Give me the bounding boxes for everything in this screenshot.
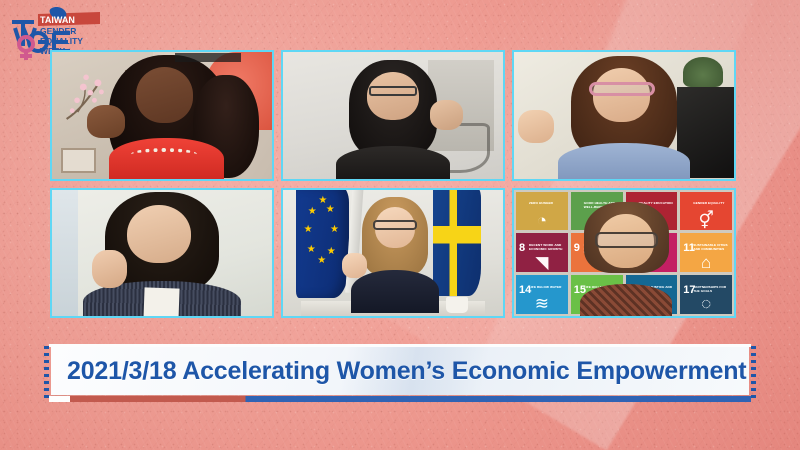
- participant-3-hand-gesture: [518, 110, 553, 143]
- sdg-glyph-icon: ◥: [535, 254, 548, 271]
- sdg-label: Sustainable cities and communities: [693, 244, 730, 251]
- banner-dotted-border-right: [751, 346, 756, 400]
- sdg-poster-1: Zero hunger◔: [516, 192, 568, 231]
- participant-2-hand-gesture: [430, 100, 463, 130]
- participant-4-video-feed: [52, 190, 272, 317]
- participant-tile-4[interactable]: [50, 188, 274, 319]
- logo-venus-symbol: [19, 37, 33, 60]
- logo-line-equality: EQUALITY: [40, 36, 83, 46]
- sdg-glyph-icon: ⌂: [701, 254, 711, 271]
- sdg-label: Partnerships for the goals: [693, 286, 730, 293]
- sdg-poster-11: 11Sustainable cities and communities⌂: [680, 233, 732, 272]
- sweden-flag: [433, 188, 481, 296]
- sdg-glyph-icon: ◔: [537, 212, 547, 229]
- eyeglasses-icon: [595, 232, 658, 248]
- banner-underline-bar-blue: [248, 396, 751, 402]
- sdg-poster-14: 14Life below water≋: [516, 275, 568, 314]
- session-title-banner: 2021/3/18 Accelerating Women’s Economic …: [44, 344, 756, 402]
- participant-tile-6[interactable]: Zero hunger◔Good health and well-being♥Q…: [512, 188, 736, 319]
- pink-eyeglasses-icon: [589, 82, 655, 96]
- sdg-number: 8: [519, 243, 525, 254]
- sdg-poster-8: 8Decent work and economic growth◥: [516, 233, 568, 272]
- participant-1-video-feed: [52, 52, 272, 179]
- participant-2-video-feed: [283, 52, 503, 179]
- participant-5-video-feed: ★ ★ ★ ★ ★ ★ ★ ★: [283, 190, 503, 317]
- sdg-poster-4: Gender equality⚥: [680, 192, 732, 231]
- sdg-number: 9: [574, 243, 580, 254]
- session-title-text: 2021/3/18 Accelerating Women’s Economic …: [51, 357, 746, 386]
- participant-6-video-feed: Zero hunger◔Good health and well-being♥Q…: [514, 190, 734, 317]
- banner-dotted-border-left: [44, 346, 49, 400]
- video-conference-grid: ★ ★ ★ ★ ★ ★ ★ ★ Zero hunger◔Good health …: [50, 50, 736, 318]
- participant-4-face: [127, 205, 191, 263]
- participant-2-face: [367, 72, 420, 120]
- logo-line-gender: GENDER: [40, 26, 76, 36]
- participant-1-face: [136, 67, 193, 123]
- sdg-label: Decent work and economic growth: [529, 244, 566, 251]
- banner-plate: 2021/3/18 Accelerating Women’s Economic …: [51, 347, 749, 395]
- sdg-poster-17: 17Partnerships for the goals◌: [680, 275, 732, 314]
- sdg-label: Zero hunger: [529, 202, 566, 206]
- sdg-label: Life below water: [529, 286, 566, 290]
- european-union-flag: ★ ★ ★ ★ ★ ★ ★ ★: [296, 188, 349, 299]
- participant-1-hand-gesture: [87, 105, 124, 138]
- sdg-label: Gender equality: [693, 202, 730, 206]
- background-plant: [683, 57, 723, 87]
- sdg-glyph-icon: ≋: [535, 295, 549, 312]
- participant-tile-3[interactable]: [512, 50, 736, 181]
- participant-tile-1[interactable]: [50, 50, 274, 181]
- eyeglasses-icon: [373, 220, 417, 230]
- participant-5-hand-gesture: [342, 253, 366, 278]
- sdg-glyph-icon: ◌: [701, 295, 711, 312]
- participant-tile-2[interactable]: [281, 50, 505, 181]
- participant-3-video-feed: [514, 52, 734, 179]
- participant-4-hand-gesture: [92, 250, 127, 288]
- eyeglasses-icon: [369, 86, 417, 96]
- participant-tile-5[interactable]: ★ ★ ★ ★ ★ ★ ★ ★: [281, 188, 505, 319]
- logo-line-taiwan: TAIWAN: [40, 15, 75, 25]
- desk-cup: [446, 297, 468, 313]
- participant-1-name-overlay: [175, 53, 241, 62]
- sdg-glyph-icon: ⚥: [698, 212, 713, 229]
- pearl-necklace: [131, 148, 197, 161]
